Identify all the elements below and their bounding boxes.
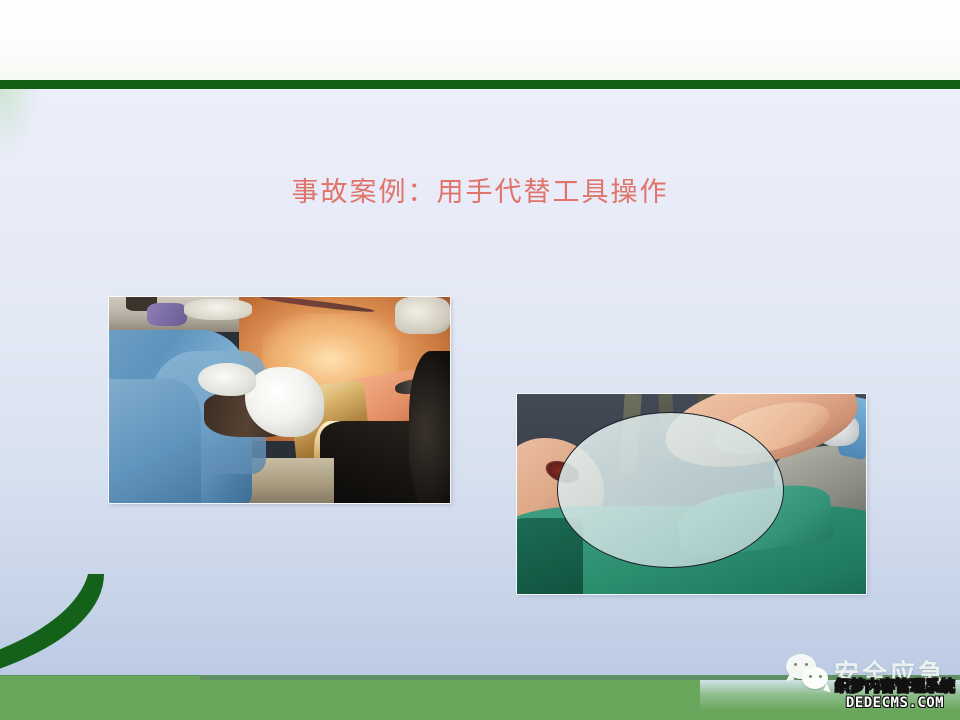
page-title: 事故案例：用手代替工具操作 (0, 170, 960, 209)
header-band (0, 0, 960, 80)
photo1-top-white-cloth (184, 299, 252, 320)
photo1-right-dark-mass (409, 351, 450, 503)
header-accent-rule (0, 80, 960, 89)
photo1-blue-gown-front (109, 379, 201, 503)
photo1-top-right-cloth (395, 297, 450, 334)
injury-closeup-photo (517, 394, 866, 594)
slide-canvas: 事故案例：用手代替工具操作 (0, 0, 960, 720)
photo2-censor-ellipse-overlay (557, 412, 784, 568)
photo1-purple-drape (147, 303, 188, 326)
footer-green-band (0, 680, 960, 720)
photo1-white-glove-second (198, 363, 256, 396)
surgical-procedure-photo (109, 297, 450, 503)
